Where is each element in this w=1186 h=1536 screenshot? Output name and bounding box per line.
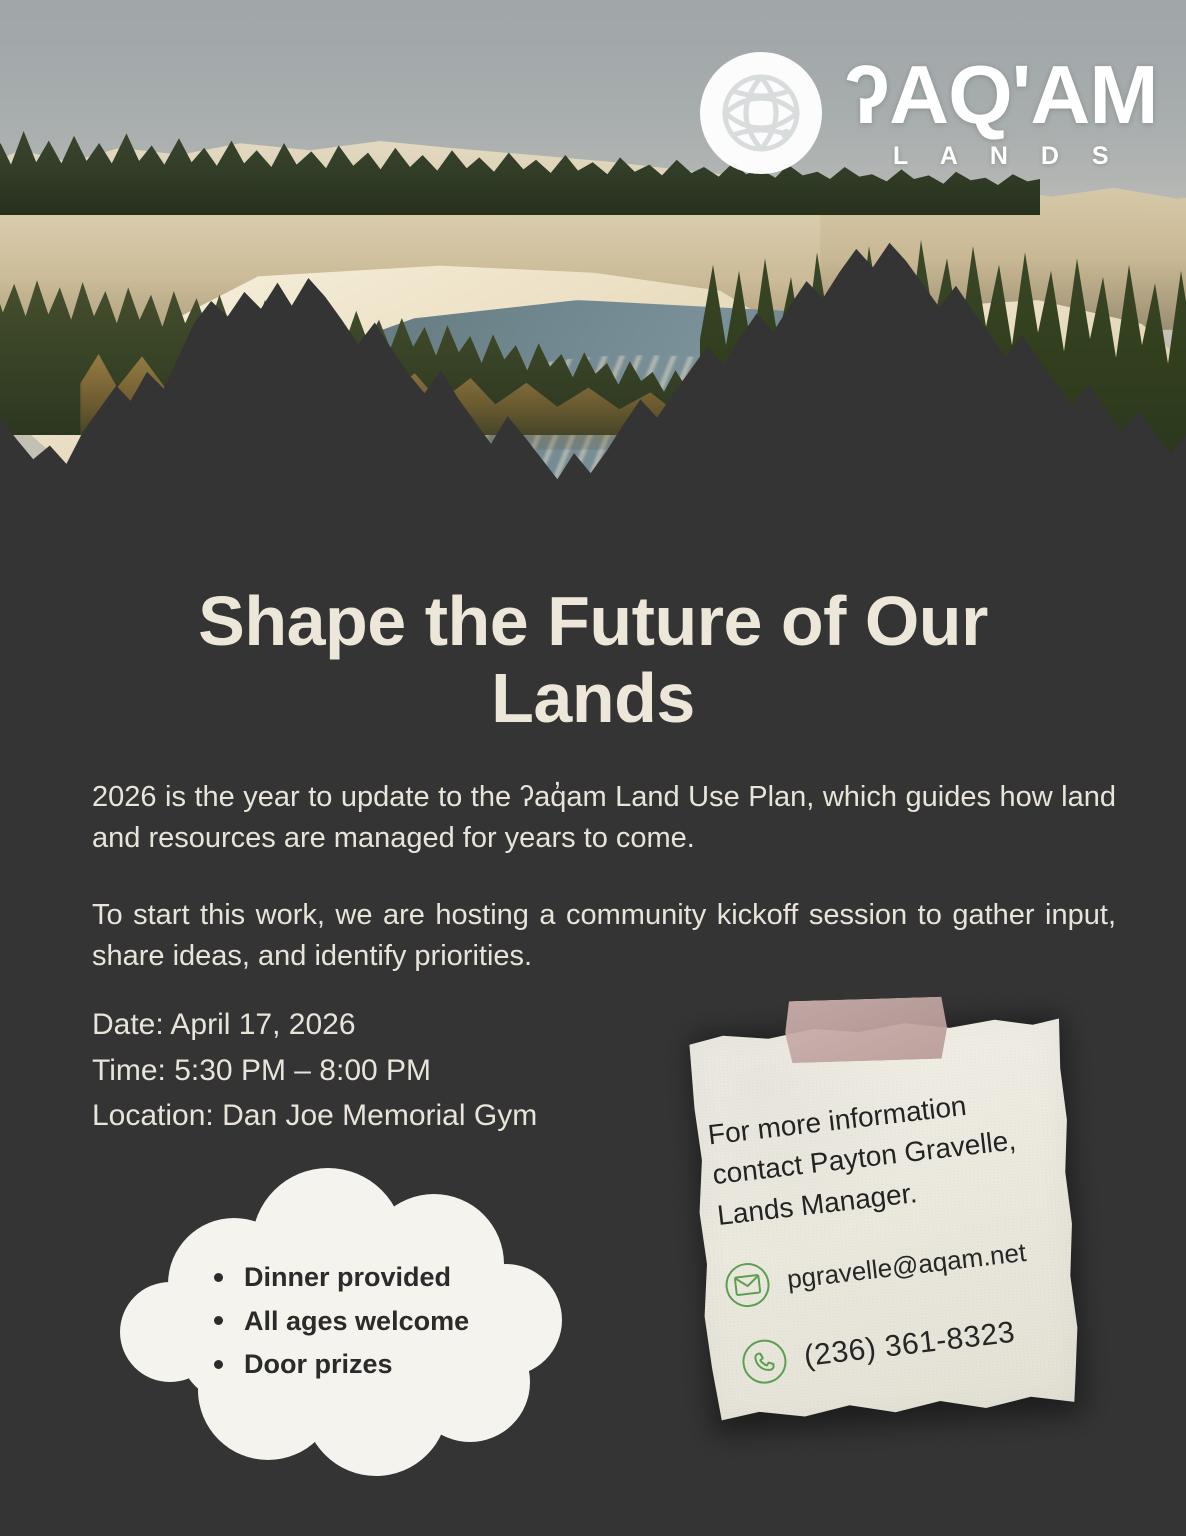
list-item: Door prizes xyxy=(210,1343,540,1387)
perks-cloud-callout: Dinner provided All ages welcome Door pr… xyxy=(118,1168,588,1484)
masking-tape-icon xyxy=(784,997,948,1064)
poster-content: Shape the Future of Our Lands 2026 is th… xyxy=(0,0,1186,1536)
contact-email-value[interactable]: pgravelle@aqam.net xyxy=(785,1237,1027,1295)
list-item: All ages welcome xyxy=(210,1300,540,1344)
body-paragraph-1: 2026 is the year to update to the ʔaq̓am… xyxy=(92,777,1116,859)
body-paragraph-2: To start this work, we are hosting a com… xyxy=(92,895,1116,977)
perks-list: Dinner provided All ages welcome Door pr… xyxy=(210,1256,540,1387)
envelope-icon xyxy=(723,1261,772,1310)
event-details: Date: April 17, 2026 Time: 5:30 PM – 8:0… xyxy=(92,1002,537,1139)
page-title: Shape the Future of Our Lands xyxy=(92,583,1094,737)
event-detail-time: Time: 5:30 PM – 8:00 PM xyxy=(92,1048,537,1094)
note-content: For more information contact Payton Grav… xyxy=(706,1079,1055,1387)
phone-icon xyxy=(740,1337,789,1386)
event-detail-date: Date: April 17, 2026 xyxy=(92,1002,537,1048)
event-detail-location: Location: Dan Joe Memorial Gym xyxy=(92,1093,537,1139)
poster: ʔAQ'AM L A N D S Shape the Future of Our… xyxy=(0,0,1186,1536)
contact-sticky-note: For more information contact Payton Grav… xyxy=(676,989,1100,1461)
list-item: Dinner provided xyxy=(210,1256,540,1300)
contact-email-row[interactable]: pgravelle@aqam.net xyxy=(723,1229,1046,1309)
